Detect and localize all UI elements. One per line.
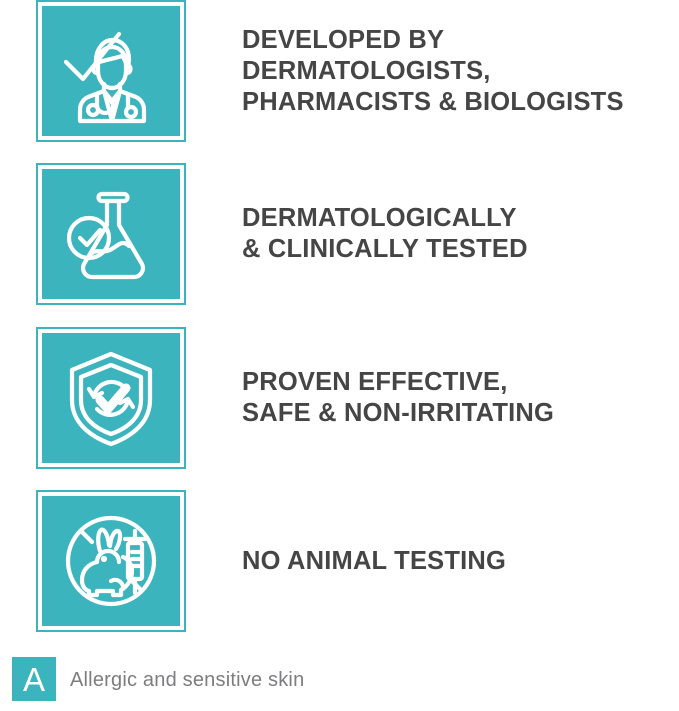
feature-text-line: PROVEN EFFECTIVE, — [242, 367, 679, 398]
feature-text-line: & CLINICALLY TESTED — [242, 234, 679, 265]
icon-tile — [36, 0, 186, 142]
doctor-check-icon — [42, 6, 180, 136]
feature-text: NO ANIMAL TESTING — [242, 490, 679, 632]
icon-tile — [36, 327, 186, 469]
feature-row: DEVELOPED BY DERMATOLOGISTS, PHARMACISTS… — [0, 0, 679, 142]
feature-text-line: SAFE & NON-IRRITATING — [242, 398, 679, 429]
feature-text: DEVELOPED BY DERMATOLOGISTS, PHARMACISTS… — [242, 0, 679, 142]
icon-tile — [36, 490, 186, 632]
shield-check-icon — [42, 333, 180, 463]
feature-row: NO ANIMAL TESTING — [0, 490, 679, 632]
icon-tile — [36, 163, 186, 305]
footer-label: Allergic and sensitive skin — [70, 650, 304, 711]
feature-text: PROVEN EFFECTIVE, SAFE & NON-IRRITATING — [242, 327, 679, 469]
allergic-badge: A — [12, 657, 56, 701]
feature-row: DERMATOLOGICALLY & CLINICALLY TESTED — [0, 163, 679, 305]
feature-text-line: PHARMACISTS & BIOLOGISTS — [242, 87, 679, 118]
flask-check-icon — [42, 169, 180, 299]
allergic-badge-letter: A — [23, 663, 45, 696]
footer: A Allergic and sensitive skin — [0, 650, 679, 711]
feature-text-line: DEVELOPED BY — [242, 25, 679, 56]
feature-row: PROVEN EFFECTIVE, SAFE & NON-IRRITATING — [0, 327, 679, 469]
feature-text-line: DERMATOLOGISTS, — [242, 56, 679, 87]
no-animal-testing-icon — [42, 496, 180, 626]
feature-text-line: NO ANIMAL TESTING — [242, 546, 679, 577]
feature-text: DERMATOLOGICALLY & CLINICALLY TESTED — [242, 163, 679, 305]
feature-text-line: DERMATOLOGICALLY — [242, 203, 679, 234]
